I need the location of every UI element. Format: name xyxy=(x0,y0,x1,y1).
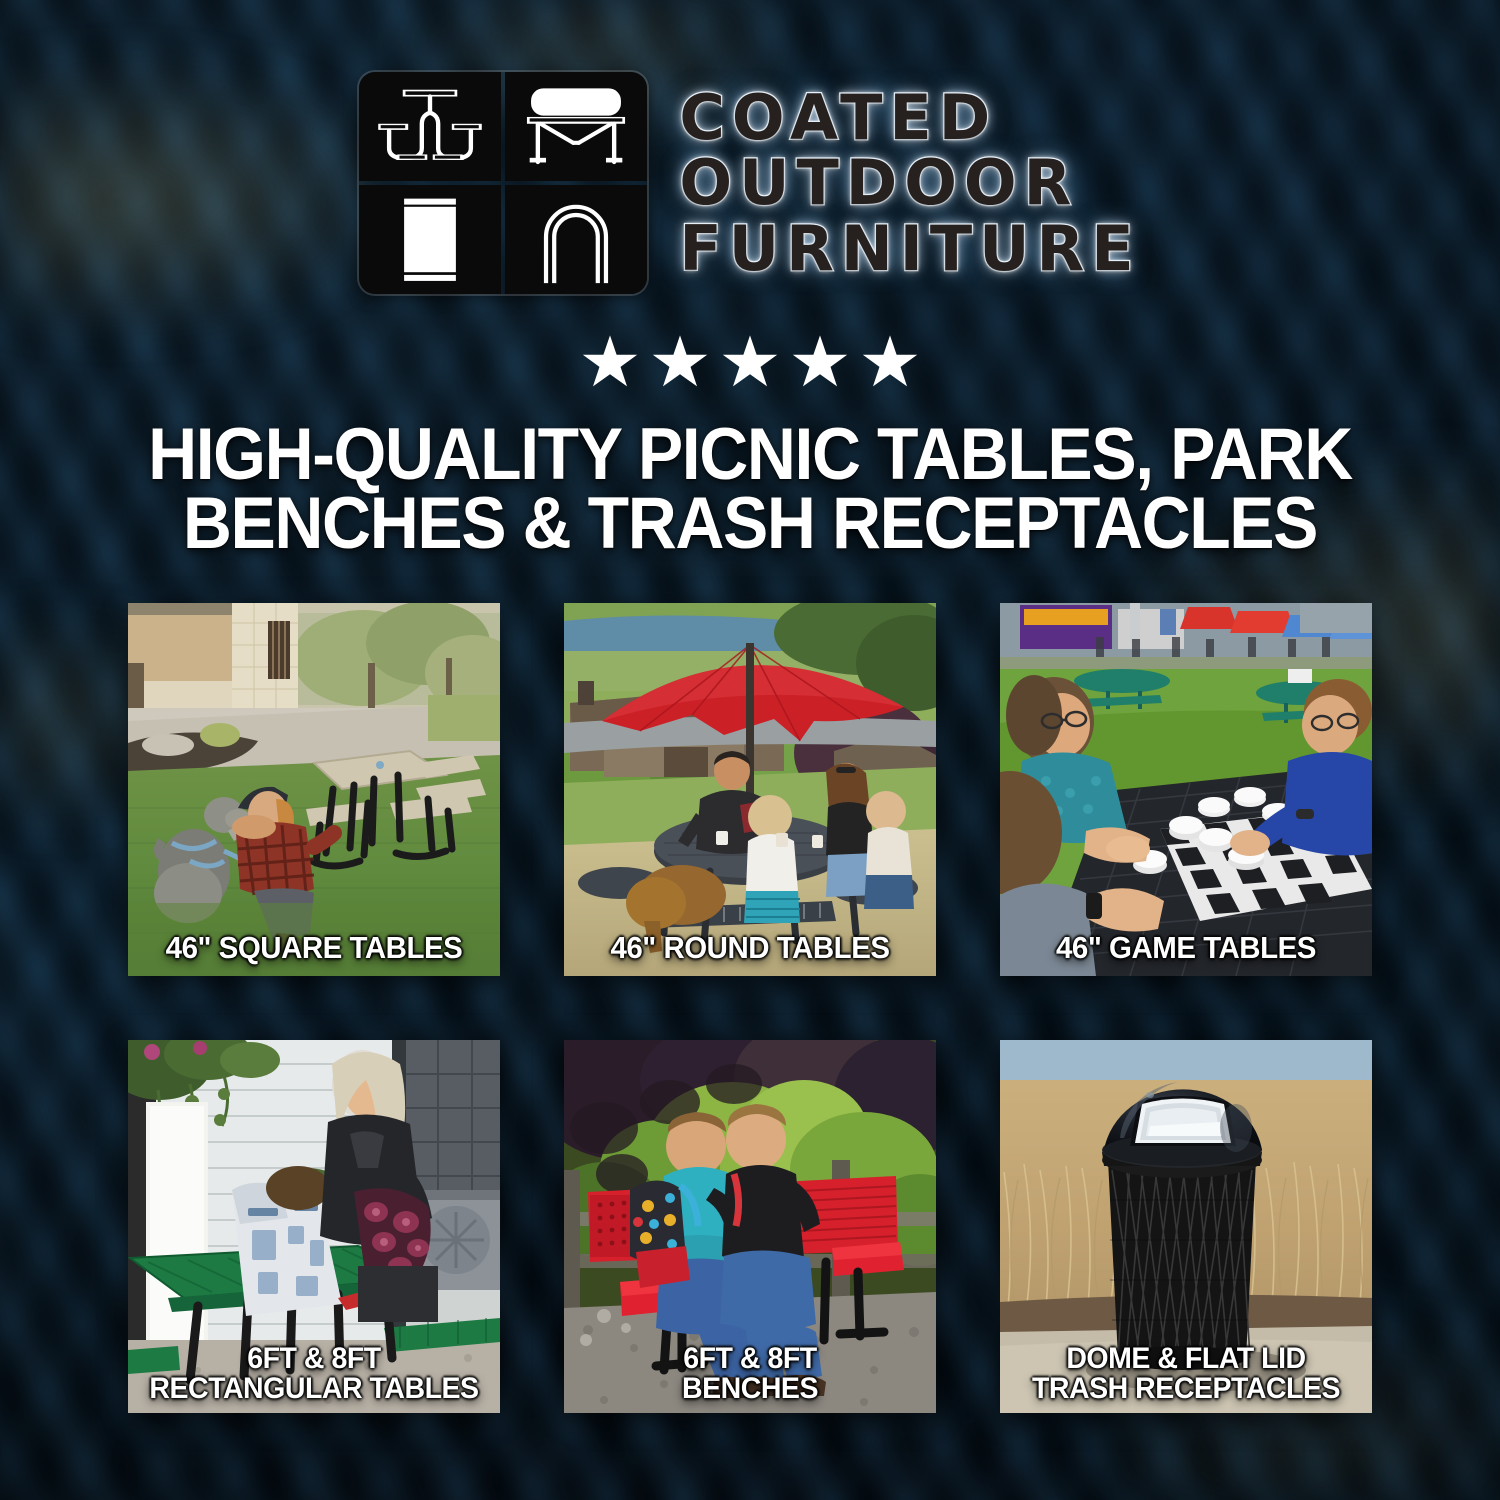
trash-receptacle-icon xyxy=(359,185,501,294)
star-icon xyxy=(722,334,778,390)
game-table-photo xyxy=(1000,603,1372,976)
tile-caption: 6FT & 8FT RECTANGULAR TABLES xyxy=(137,1344,490,1405)
star-icon xyxy=(792,334,848,390)
caption-line-1: 6FT & 8FT xyxy=(683,1342,816,1375)
star-icon xyxy=(862,334,918,390)
tile-caption: 46" GAME TABLES xyxy=(1009,932,1362,964)
caption-line-1: 6FT & 8FT xyxy=(247,1342,380,1375)
rating-stars xyxy=(0,334,1500,390)
caption-line-2: TRASH RECEPTACLES xyxy=(1009,1374,1362,1405)
round-table-photo xyxy=(564,603,936,976)
logo-line-1: COATED xyxy=(679,86,1140,149)
tile-caption: DOME & FLAT LID TRASH RECEPTACLES xyxy=(1009,1344,1362,1405)
caption-line-1: DOME & FLAT LID xyxy=(1066,1342,1305,1375)
caption-line-1: 46" GAME TABLES xyxy=(1056,930,1316,965)
caption-line-2: BENCHES xyxy=(573,1374,926,1405)
caption-line-2: RECTANGULAR TABLES xyxy=(137,1374,490,1405)
logo-icon-grid xyxy=(359,72,647,294)
park-bench-icon xyxy=(505,72,647,181)
caption-line-1: 46" SQUARE TABLES xyxy=(166,930,463,965)
product-tile-benches[interactable]: 6FT & 8FT BENCHES xyxy=(564,1040,936,1413)
page-title: HIGH-QUALITY PICNIC TABLES, PARK BENCHES… xyxy=(53,420,1448,559)
square-table-photo xyxy=(128,603,500,976)
brand-wordmark: COATED OUTDOOR FURNITURE xyxy=(679,86,1140,280)
brand-logo: COATED OUTDOOR FURNITURE xyxy=(0,0,1500,294)
caption-line-1: 46" ROUND TABLES xyxy=(610,930,889,965)
tile-caption: 6FT & 8FT BENCHES xyxy=(573,1344,926,1405)
tile-caption: 46" ROUND TABLES xyxy=(573,932,926,964)
product-tile-rectangular-tables[interactable]: 6FT & 8FT RECTANGULAR TABLES xyxy=(128,1040,500,1413)
product-tile-game-tables[interactable]: 46" GAME TABLES xyxy=(1000,603,1372,976)
dome-lid-icon xyxy=(505,185,647,294)
picnic-table-icon xyxy=(359,72,501,181)
tile-caption: 46" SQUARE TABLES xyxy=(137,932,490,964)
star-icon xyxy=(582,334,638,390)
headline-line-1: HIGH-QUALITY PICNIC TABLES, PARK xyxy=(108,420,1391,489)
logo-line-3: FURNITURE xyxy=(679,217,1140,280)
product-grid: 46" SQUARE TABLES xyxy=(126,603,1374,1413)
product-tile-trash-receptacles[interactable]: DOME & FLAT LID TRASH RECEPTACLES xyxy=(1000,1040,1372,1413)
product-tile-round-tables[interactable]: 46" ROUND TABLES xyxy=(564,603,936,976)
headline-line-2: BENCHES & TRASH RECEPTACLES xyxy=(108,489,1391,558)
star-icon xyxy=(652,334,708,390)
product-tile-square-tables[interactable]: 46" SQUARE TABLES xyxy=(128,603,500,976)
logo-line-2: OUTDOOR xyxy=(679,151,1140,214)
